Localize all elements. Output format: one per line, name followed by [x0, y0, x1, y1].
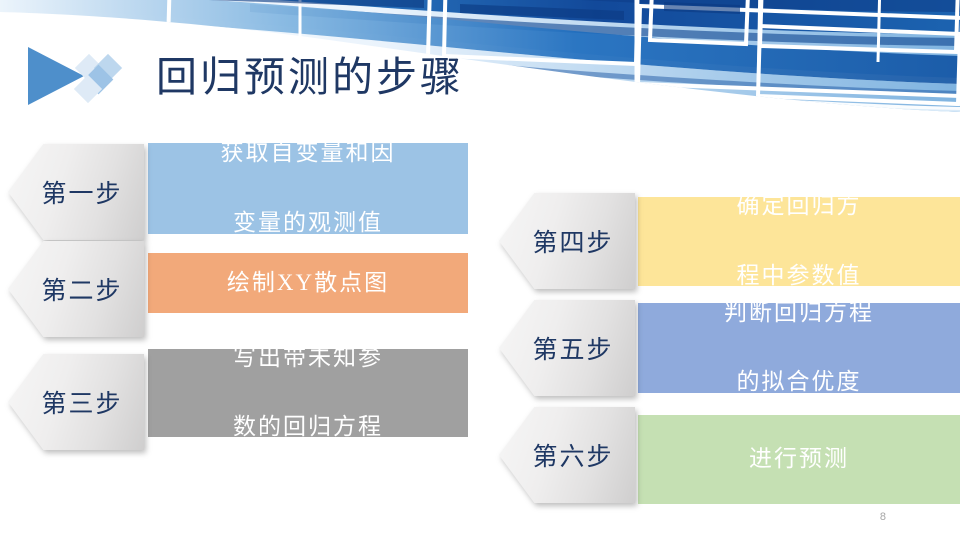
step-4-description-bar: 确定回归方 程中参数值 [638, 197, 960, 286]
step-6-badge-label: 第六步 [532, 437, 613, 473]
step-4-line-2: 程中参数值 [652, 259, 946, 294]
step-4-badge-label: 第四步 [532, 223, 613, 259]
step-2-badge-label: 第二步 [41, 271, 122, 307]
slide-canvas: 回归预测的步骤 获取自变量和因 变量的观测值 第一步 绘制XY散点图 第二步 [0, 0, 960, 540]
step-5-line-2: 的拟合优度 [652, 365, 946, 400]
triangle-shape [28, 47, 84, 105]
triangle-diamond-logo [26, 45, 146, 107]
step-3-description-bar: 写出带未知参 数的回归方程 [148, 349, 468, 437]
page-number: 8 [880, 511, 886, 523]
step-4-line-1: 确定回归方 [652, 189, 946, 224]
step-1-line-1: 获取自变量和因 [162, 136, 454, 171]
step-1-badge-label: 第一步 [41, 174, 122, 210]
step-1-line-2: 变量的观测值 [162, 206, 454, 241]
step-6-description-bar: 进行预测 [638, 415, 960, 504]
step-3-line-2: 数的回归方程 [162, 410, 454, 445]
step-5-line-1: 判断回归方程 [652, 296, 946, 331]
step-1-description-bar: 获取自变量和因 变量的观测值 [148, 143, 468, 234]
step-5-description-bar: 判断回归方程 的拟合优度 [638, 303, 960, 393]
step-2-line-1: 绘制XY散点图 [162, 266, 454, 301]
step-5-badge-label: 第五步 [532, 330, 613, 366]
step-3-badge-label: 第三步 [41, 384, 122, 420]
step-2-description-bar: 绘制XY散点图 [148, 253, 468, 313]
page-title: 回归预测的步骤 [156, 52, 464, 102]
step-6-line-1: 进行预测 [652, 442, 946, 477]
step-3-line-1: 写出带未知参 [162, 341, 454, 376]
